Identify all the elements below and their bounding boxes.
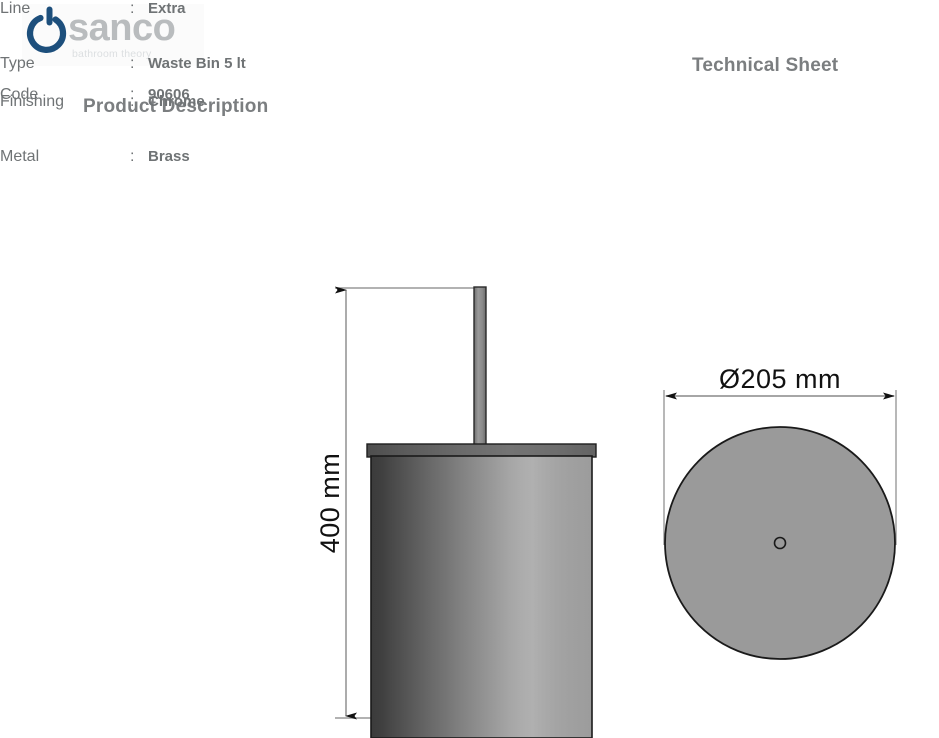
spec-separator: :: [130, 148, 148, 166]
bin-lid: [367, 444, 596, 457]
waste-bin-front-elevation: 400 mm: [315, 287, 596, 738]
spec-row-type: Type : Waste Bin 5 lt: [0, 55, 939, 73]
spec-row-line: Line : Extra: [0, 0, 939, 18]
material-spec-list: Finishing : Chrome Metal : Brass: [0, 93, 939, 144]
spec-row-finishing: Finishing : Chrome: [0, 93, 939, 111]
technical-sheet-page: sanco bathroom theory Technical Sheet Pr…: [0, 0, 939, 738]
brush-handle-rod: [474, 287, 486, 447]
spec-label: Metal: [0, 148, 130, 166]
spec-label: Type: [0, 55, 130, 73]
spec-value: Extra: [148, 0, 186, 17]
spec-separator: :: [130, 93, 148, 111]
bin-plan-circle: [665, 427, 895, 659]
spec-value: Brass: [148, 148, 190, 165]
spec-row-metal: Metal : Brass: [0, 148, 939, 166]
spec-label: Finishing: [0, 93, 130, 111]
waste-bin-top-view: Ø205 mm: [664, 364, 896, 659]
spec-label: Line: [0, 0, 130, 18]
center-hole-icon: [775, 538, 786, 549]
height-dimension-label: 400 mm: [315, 453, 345, 554]
spec-value: Waste Bin 5 lt: [148, 55, 246, 72]
spec-separator: :: [130, 55, 148, 73]
diameter-dimension-label: Ø205 mm: [719, 364, 841, 394]
spec-value: Chrome: [148, 93, 205, 110]
spec-separator: :: [130, 0, 148, 18]
bin-body-cylinder: [371, 456, 592, 738]
